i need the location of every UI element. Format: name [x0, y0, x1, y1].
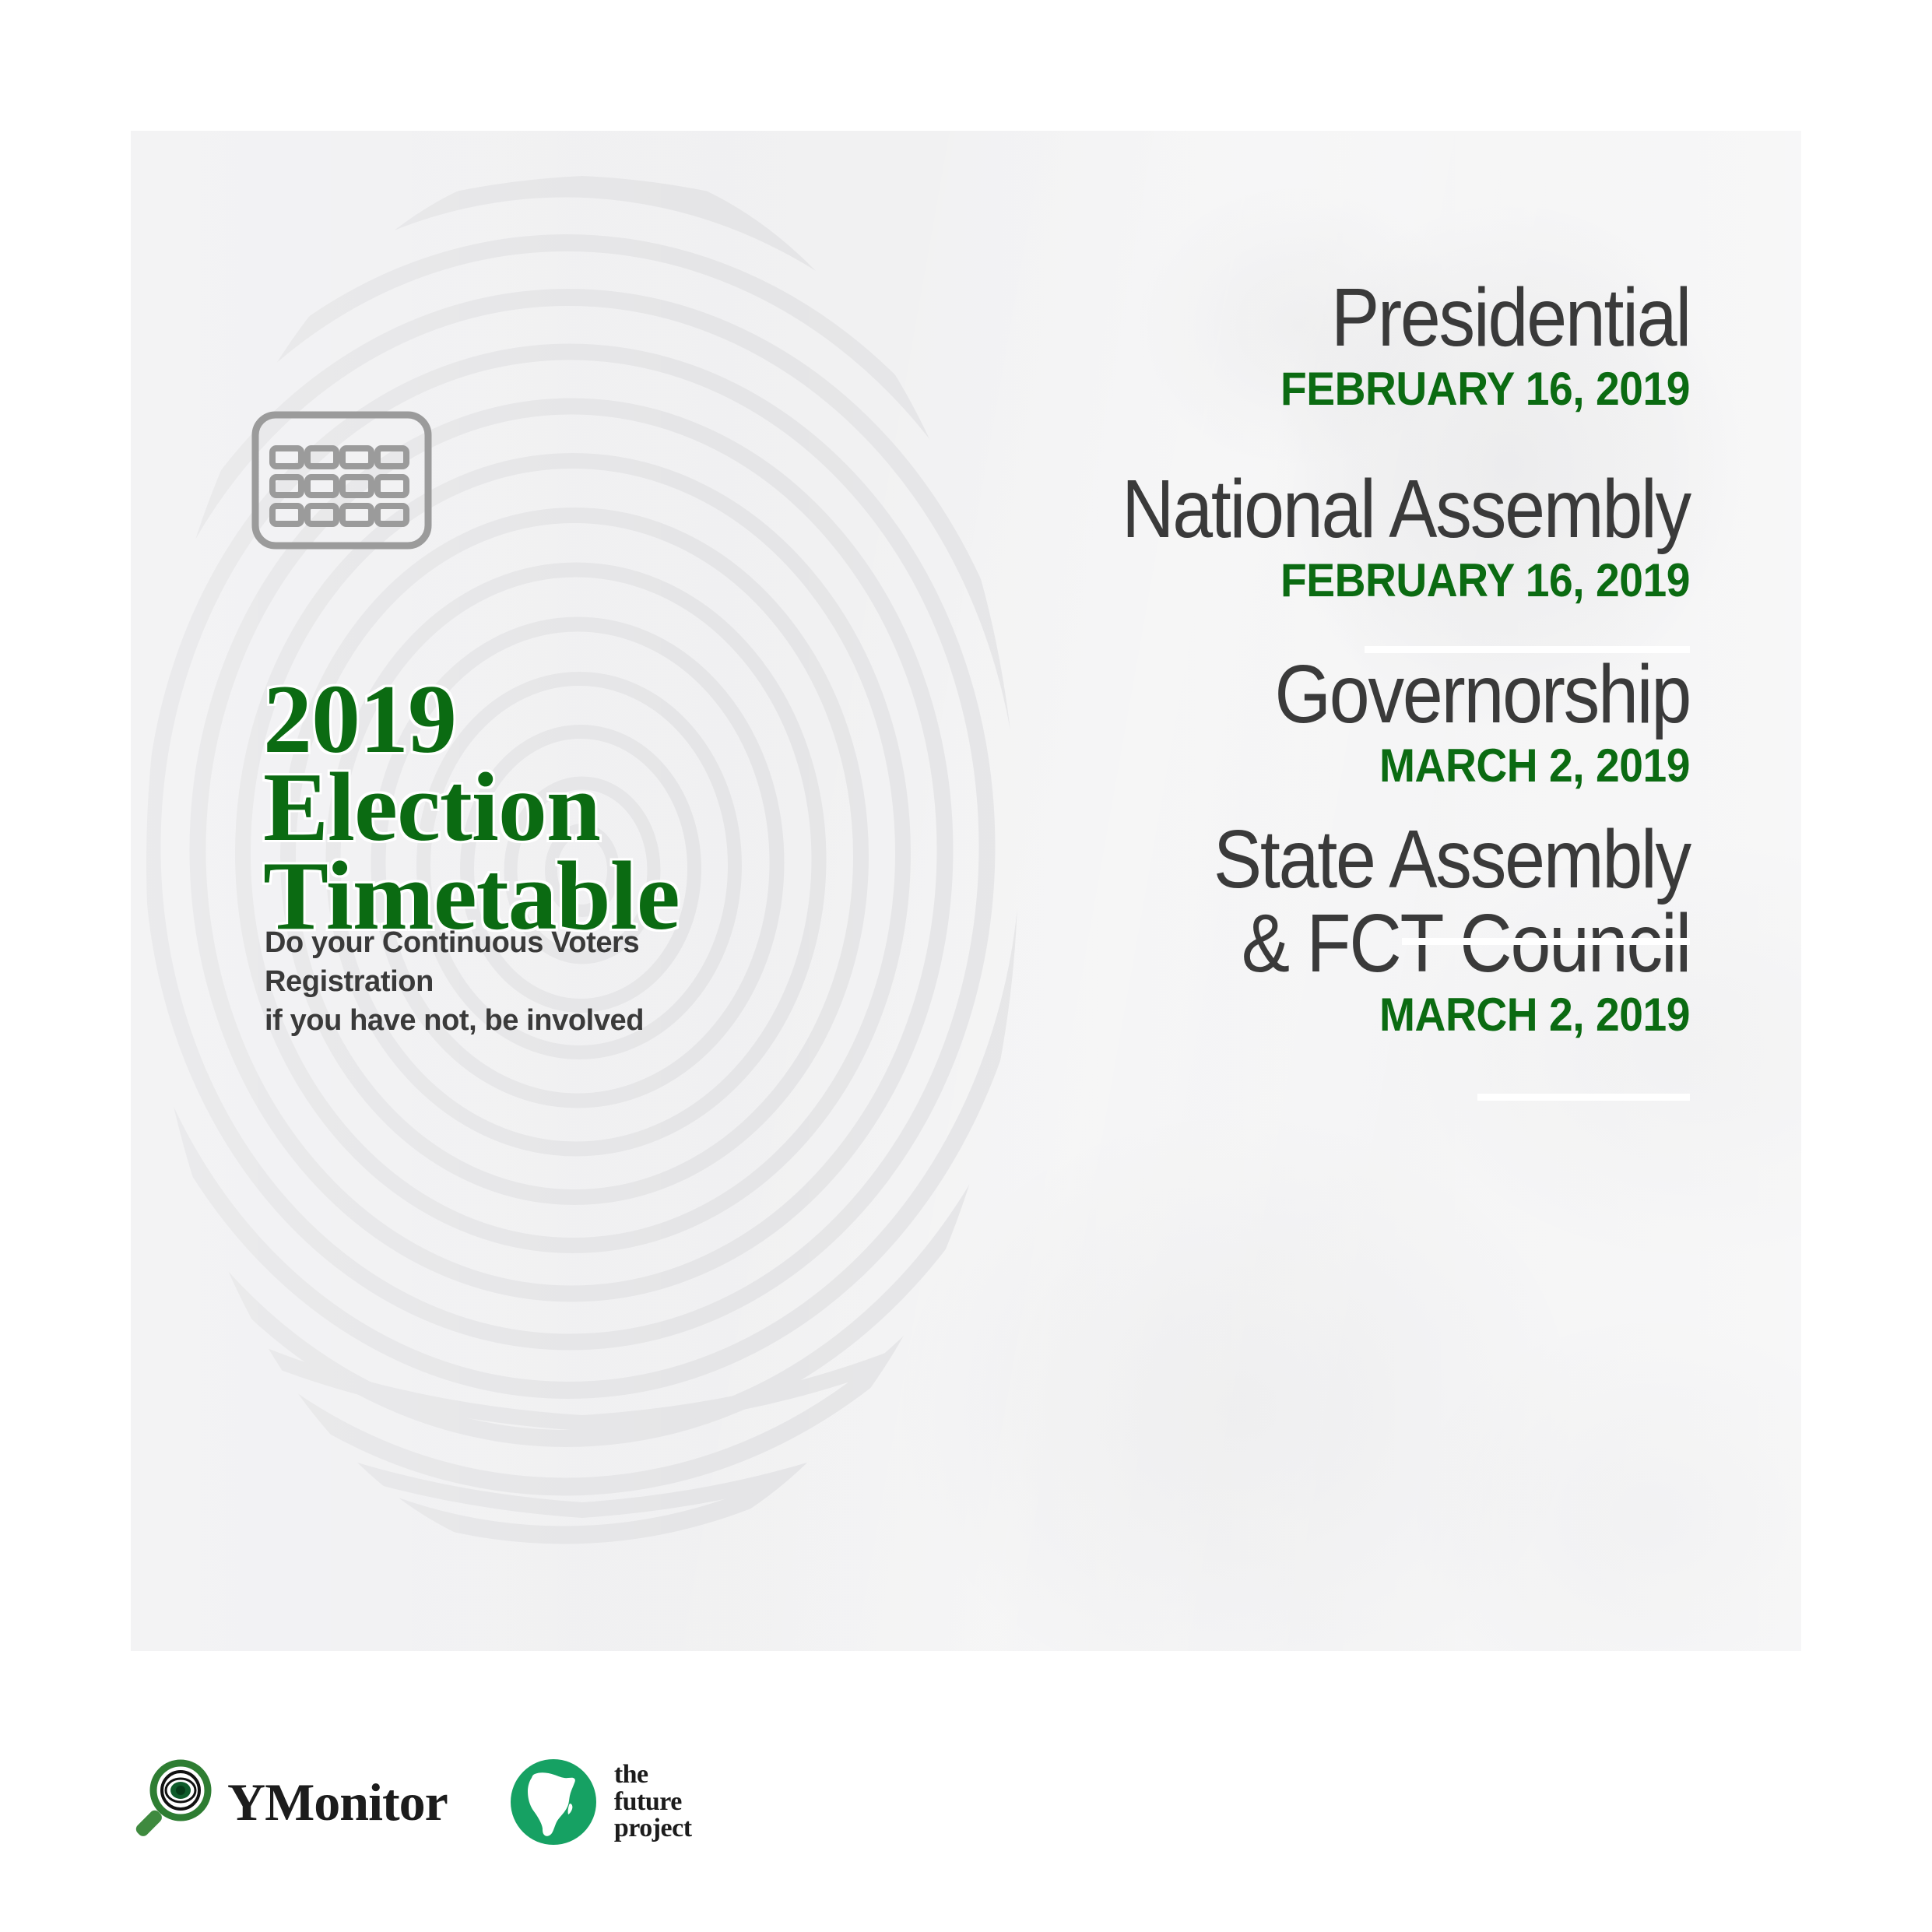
schedule-event-date: FEBRUARY 16, 2019: [630, 554, 1690, 606]
schedule-event-name: National Assembly: [676, 467, 1690, 551]
footer-logos: YMonitor the future project: [131, 1736, 1221, 1868]
schedule-event-date: MARCH 2, 2019: [630, 989, 1690, 1041]
africa-circle-icon: [510, 1758, 597, 1846]
schedule-event-line-1: Presidential: [676, 276, 1690, 360]
election-schedule-list: Presidential FEBRUARY 16, 2019 National …: [538, 131, 1690, 1651]
schedule-event-name: Governorship: [676, 652, 1690, 736]
logo-tfp-line-3: project: [614, 1815, 692, 1842]
schedule-row-governorship: Governorship MARCH 2, 2019: [538, 652, 1690, 792]
schedule-divider: [1477, 1094, 1690, 1101]
schedule-row-state-assembly-fct: State Assembly & FCT Council MARCH 2, 20…: [538, 817, 1690, 1041]
schedule-row-national-assembly: National Assembly FEBRUARY 16, 2019: [538, 467, 1690, 606]
logo-ymonitor-wordmark: YMonitor: [227, 1776, 448, 1828]
schedule-event-line-1: Governorship: [676, 652, 1690, 736]
schedule-row-presidential: Presidential FEBRUARY 16, 2019: [538, 276, 1690, 415]
schedule-event-date: MARCH 2, 2019: [630, 739, 1690, 792]
logo-tfp-wordmark: the future project: [614, 1762, 692, 1842]
schedule-divider: [1402, 938, 1690, 945]
logo-the-future-project[interactable]: the future project: [510, 1758, 692, 1846]
logo-tfp-line-1: the: [614, 1762, 692, 1789]
poster-canvas: 2019 Election Timetable Do your Continuo…: [0, 0, 1932, 1932]
logo-tfp-line-2: future: [614, 1789, 692, 1816]
schedule-event-line-1: National Assembly: [676, 467, 1690, 551]
schedule-divider: [1365, 646, 1690, 653]
logo-ymonitor[interactable]: YMonitor: [131, 1759, 448, 1845]
schedule-event-name: Presidential: [676, 276, 1690, 360]
poster-card: 2019 Election Timetable Do your Continuo…: [131, 131, 1801, 1651]
schedule-event-name: State Assembly & FCT Council: [676, 817, 1690, 985]
magnifier-eye-icon: [131, 1759, 223, 1845]
schedule-event-date: FEBRUARY 16, 2019: [630, 363, 1690, 415]
schedule-event-line-1: State Assembly: [676, 817, 1690, 901]
calendar-grid-icon: [251, 411, 432, 550]
